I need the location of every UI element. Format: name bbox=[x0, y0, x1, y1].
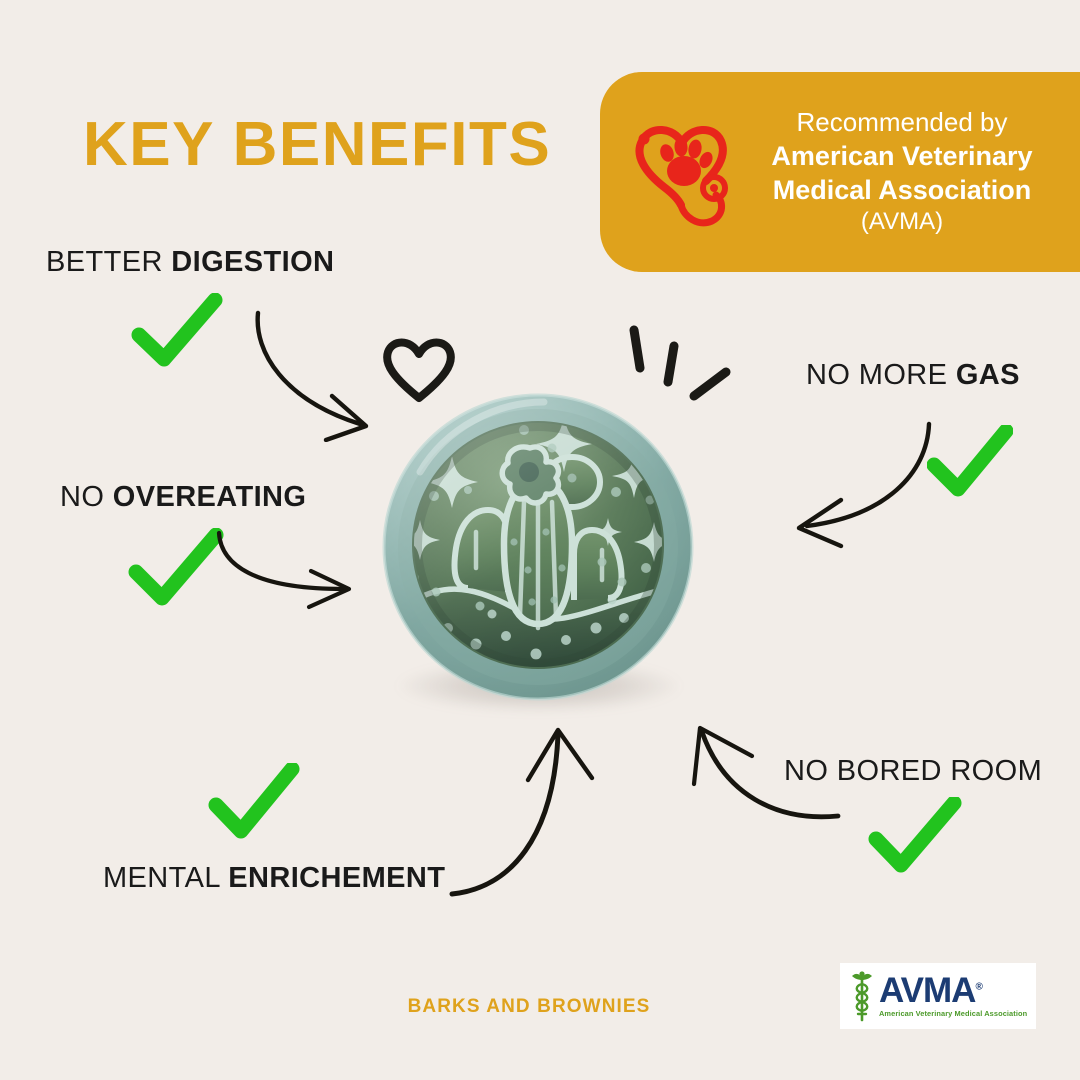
infographic-canvas: KEY BENEFITS Recommended by American Vet bbox=[0, 0, 1080, 1080]
benefit-label-overeating-bold: OVEREATING bbox=[113, 481, 307, 513]
benefit-label-overeating-regular: NO bbox=[60, 481, 113, 513]
heart-stethoscope-paw-icon bbox=[624, 109, 742, 239]
arrow-overeating-to-bowl bbox=[207, 527, 365, 611]
avma-registered-mark: ® bbox=[975, 982, 981, 993]
avma-recommendation-badge: Recommended by American Veterinary Medic… bbox=[600, 72, 1080, 272]
avma-wordmark: AVMA® bbox=[879, 974, 982, 1008]
benefit-label-digestion: BETTER DIGESTION bbox=[46, 246, 334, 279]
product-image-cactus-slow-feeder-bowl bbox=[376, 392, 700, 718]
benefit-label-enrichment-regular: MENTAL bbox=[103, 862, 228, 894]
arrow-digestion-to-bowl bbox=[232, 300, 397, 442]
checkmark-icon-bored-room bbox=[868, 797, 962, 873]
arrow-bored-room-to-bowl bbox=[652, 722, 852, 852]
avma-logo: AVMA® American Veterinary Medical Associ… bbox=[840, 963, 1036, 1029]
arrow-gas-to-bowl bbox=[789, 416, 965, 552]
checkmark-icon-digestion bbox=[131, 293, 223, 367]
product-bowl-illustration bbox=[376, 392, 700, 718]
benefit-label-gas: NO MORE GAS bbox=[806, 359, 1020, 392]
badge-text-block: Recommended by American Veterinary Medic… bbox=[742, 106, 1080, 237]
checkmark-icon-enrichment bbox=[208, 763, 300, 839]
benefit-label-enrichment: MENTAL ENRICHEMENT bbox=[103, 862, 445, 895]
benefit-label-overeating: NO OVEREATING bbox=[60, 481, 306, 514]
footer-brand-text: BARKS AND BROWNIES bbox=[408, 996, 651, 1018]
badge-line-2: American Veterinary bbox=[742, 139, 1062, 173]
benefit-label-gas-regular: NO MORE bbox=[806, 359, 956, 391]
avma-wordmark-text: AVMA bbox=[879, 971, 975, 1010]
badge-line-3: Medical Association bbox=[742, 173, 1062, 207]
benefit-label-digestion-regular: BETTER bbox=[46, 246, 171, 278]
page-title: KEY BENEFITS bbox=[83, 114, 551, 176]
badge-line-4: (AVMA) bbox=[742, 207, 1062, 237]
badge-line-1: Recommended by bbox=[742, 106, 1062, 139]
avma-logo-text-block: AVMA® American Veterinary Medical Associ… bbox=[876, 974, 1030, 1018]
benefit-label-digestion-bold: DIGESTION bbox=[171, 246, 334, 278]
benefit-label-gas-bold: GAS bbox=[956, 359, 1020, 391]
arrow-enrichment-to-bowl bbox=[440, 722, 636, 904]
benefit-label-enrichment-bold: ENRICHEMENT bbox=[228, 862, 445, 894]
caduceus-icon bbox=[848, 970, 876, 1022]
